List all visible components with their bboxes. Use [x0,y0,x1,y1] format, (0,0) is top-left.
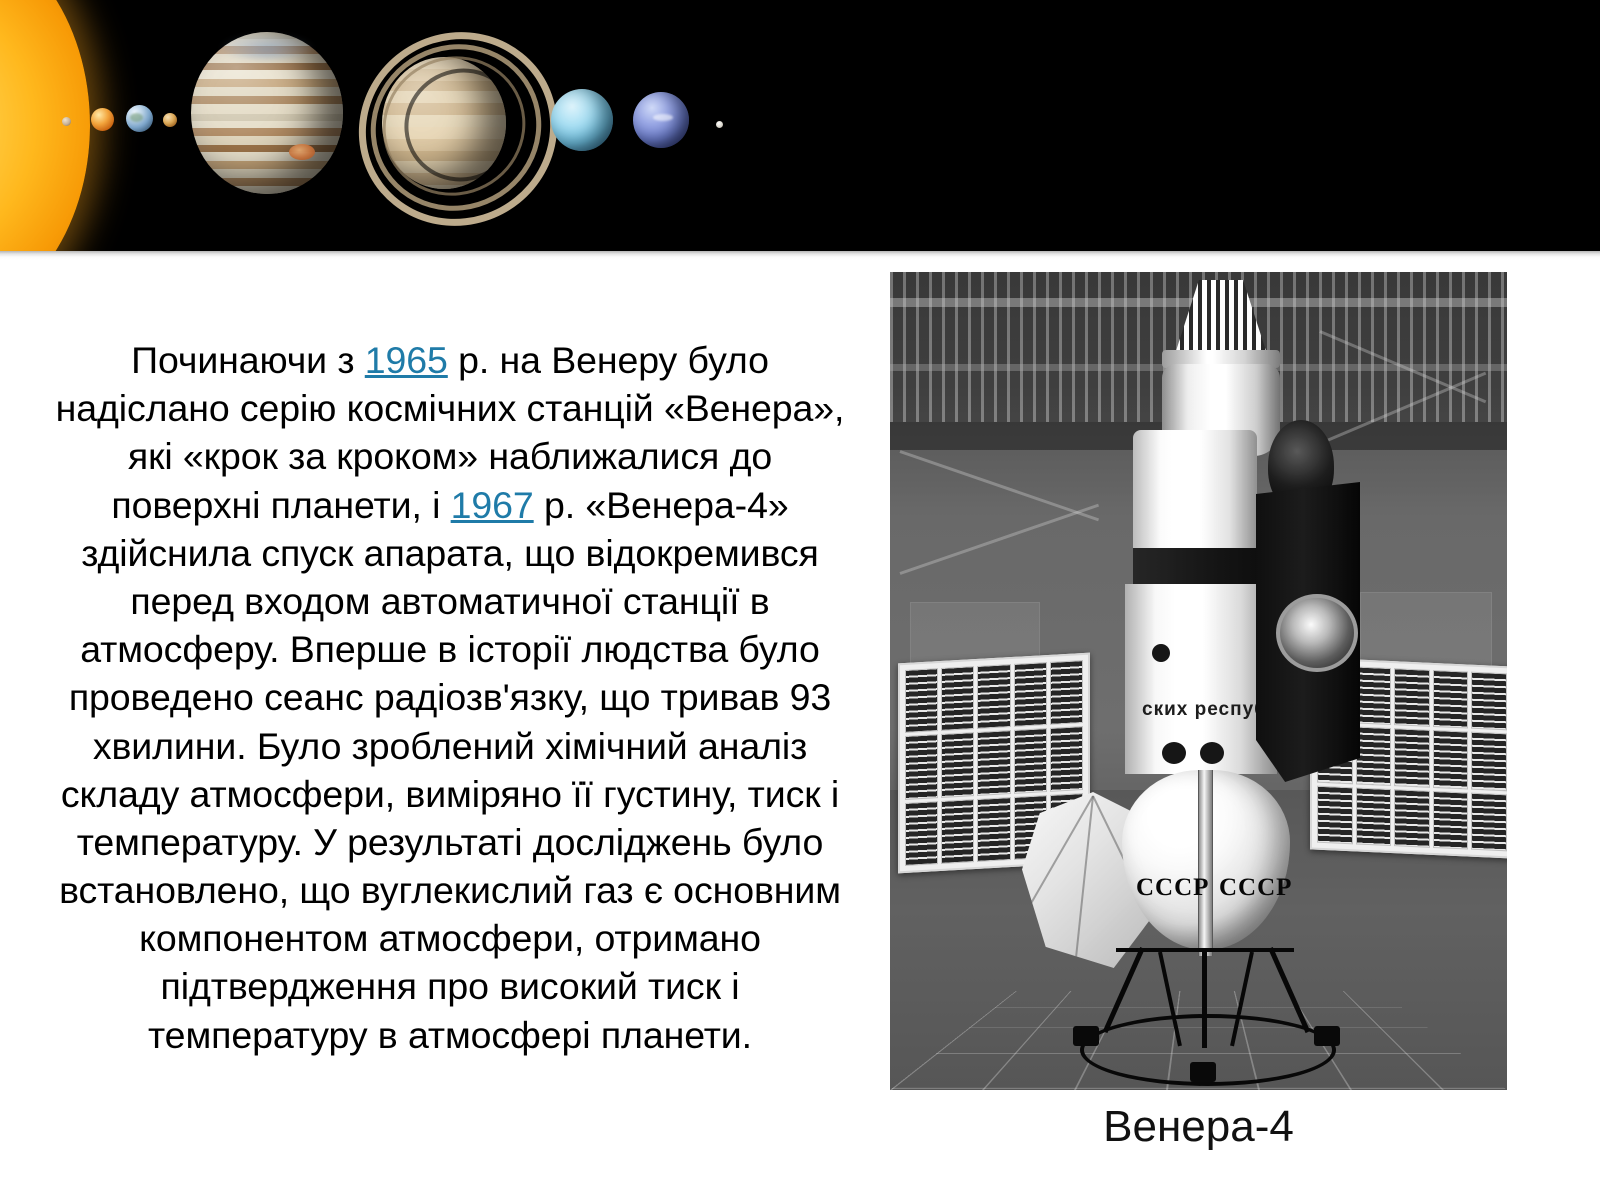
mars-planet [163,113,177,127]
bus-cyrillic-marking: ских респуб [1142,699,1267,721]
solar-system-banner [0,0,1600,251]
photo-contents: ских респуб СССР СССР [890,272,1507,1090]
year-link-1965[interactable]: 1965 [365,339,448,381]
earth-planet [126,105,153,132]
slide-content: Починаючи з 1965 р. на Венеру було надіс… [0,260,1600,1200]
banner-bottom-shadow [0,251,1600,260]
venus-planet [91,108,114,131]
jupiter-planet [191,32,343,194]
paragraph-segment-3: р. «Венера-4» здійснила спуск апарата, щ… [59,484,841,1056]
bus-port [1162,742,1186,764]
stand-leg [1202,948,1207,1048]
stand-foot [1073,1026,1099,1046]
uranus-planet [551,89,613,151]
jupiter-polar-haze [221,34,313,60]
sphere-marking-right: СССР [1219,874,1292,902]
sun-body [0,0,90,251]
stand-cross-brace [1116,948,1294,952]
jupiter-great-red-spot [289,144,315,160]
stand-foot [1314,1026,1340,1046]
bus-port [1200,742,1224,764]
camera-lens [1276,594,1358,672]
photo-caption: Венера-4 [890,1102,1507,1152]
body-paragraph: Починаючи з 1965 р. на Венеру було надіс… [55,336,845,1059]
mercury-planet [62,117,71,126]
neptune-cloud-streak [653,114,673,121]
pluto-planet [716,121,723,128]
bus-port [1152,644,1170,662]
paragraph-segment-1: Починаючи з [131,339,365,381]
sphere-strap [1198,770,1213,956]
spacecraft-bus-lower [1125,584,1277,774]
year-link-1967[interactable]: 1967 [451,484,534,526]
neptune-planet [633,92,689,148]
venera-4-photo: ских респуб СССР СССР [890,272,1507,1090]
sphere-marking-left: СССР [1136,874,1209,902]
saturn-planet [352,5,552,235]
stand-foot [1190,1062,1216,1082]
